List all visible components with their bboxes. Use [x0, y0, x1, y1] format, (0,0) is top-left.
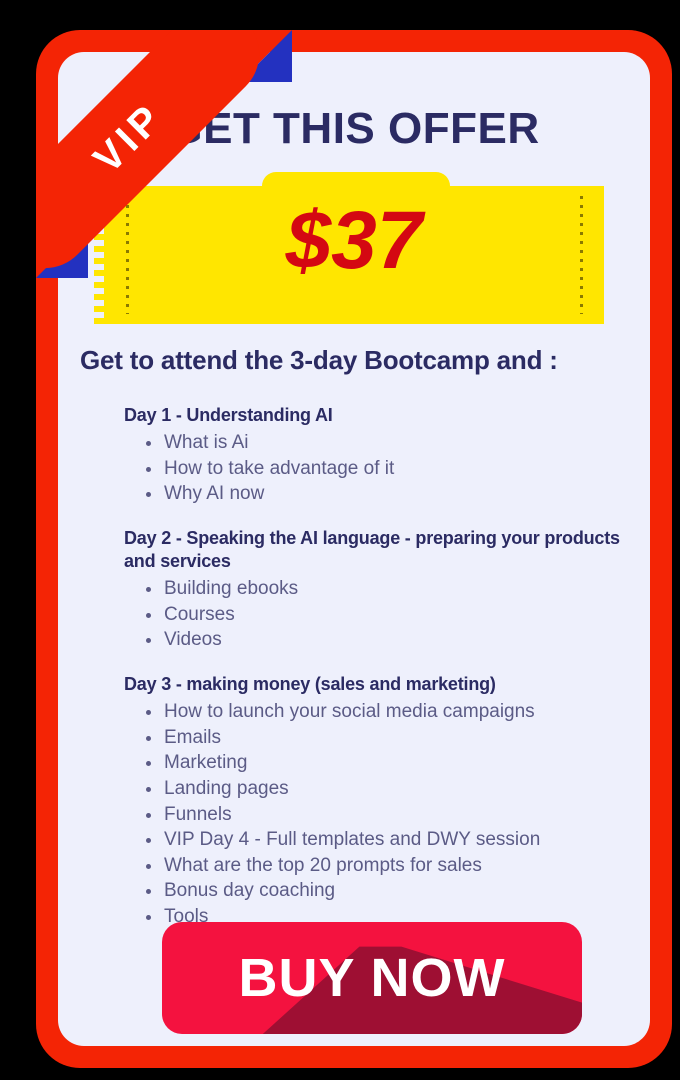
agenda-day-block: Day 3 - making money (sales and marketin…: [124, 673, 624, 930]
agenda-day-title: Day 1 - Understanding AI: [124, 404, 624, 427]
page-title: GET THIS OFFER: [58, 104, 650, 154]
agenda-day-items: How to launch your social media campaign…: [124, 699, 624, 930]
agenda-day-title: Day 2 - Speaking the AI language - prepa…: [124, 527, 624, 573]
price-ticket: $37: [94, 172, 614, 324]
agenda-list: Day 1 - Understanding AIWhat is AiHow to…: [124, 404, 624, 950]
list-item: Building ebooks: [142, 576, 624, 602]
list-item: Courses: [142, 602, 624, 628]
offer-card: GET THIS OFFER $37 Get to attend the 3-d…: [36, 30, 672, 1068]
agenda-day-block: Day 2 - Speaking the AI language - prepa…: [124, 527, 624, 653]
list-item: Why AI now: [142, 481, 624, 507]
list-item: Marketing: [142, 750, 624, 776]
agenda-day-block: Day 1 - Understanding AIWhat is AiHow to…: [124, 404, 624, 507]
agenda-day-items: Building ebooksCoursesVideos: [124, 576, 624, 653]
list-item: What is Ai: [142, 430, 624, 456]
agenda-day-title: Day 3 - making money (sales and marketin…: [124, 673, 624, 696]
buy-now-label: BUY NOW: [162, 922, 582, 1034]
list-item: How to take advantage of it: [142, 456, 624, 482]
list-item: How to launch your social media campaign…: [142, 699, 624, 725]
agenda-day-items: What is AiHow to take advantage of itWhy…: [124, 430, 624, 507]
list-item: Landing pages: [142, 776, 624, 802]
price-value: $37: [94, 194, 614, 288]
list-item: Emails: [142, 725, 624, 751]
list-item: Funnels: [142, 802, 624, 828]
sub-headline: Get to attend the 3-day Bootcamp and :: [80, 345, 642, 376]
list-item: VIP Day 4 - Full templates and DWY sessi…: [142, 827, 624, 853]
offer-card-body: GET THIS OFFER $37 Get to attend the 3-d…: [58, 52, 650, 1046]
list-item: Bonus day coaching: [142, 878, 624, 904]
buy-now-button[interactable]: BUY NOW: [162, 922, 582, 1034]
list-item: What are the top 20 prompts for sales: [142, 853, 624, 879]
list-item: Videos: [142, 627, 624, 653]
